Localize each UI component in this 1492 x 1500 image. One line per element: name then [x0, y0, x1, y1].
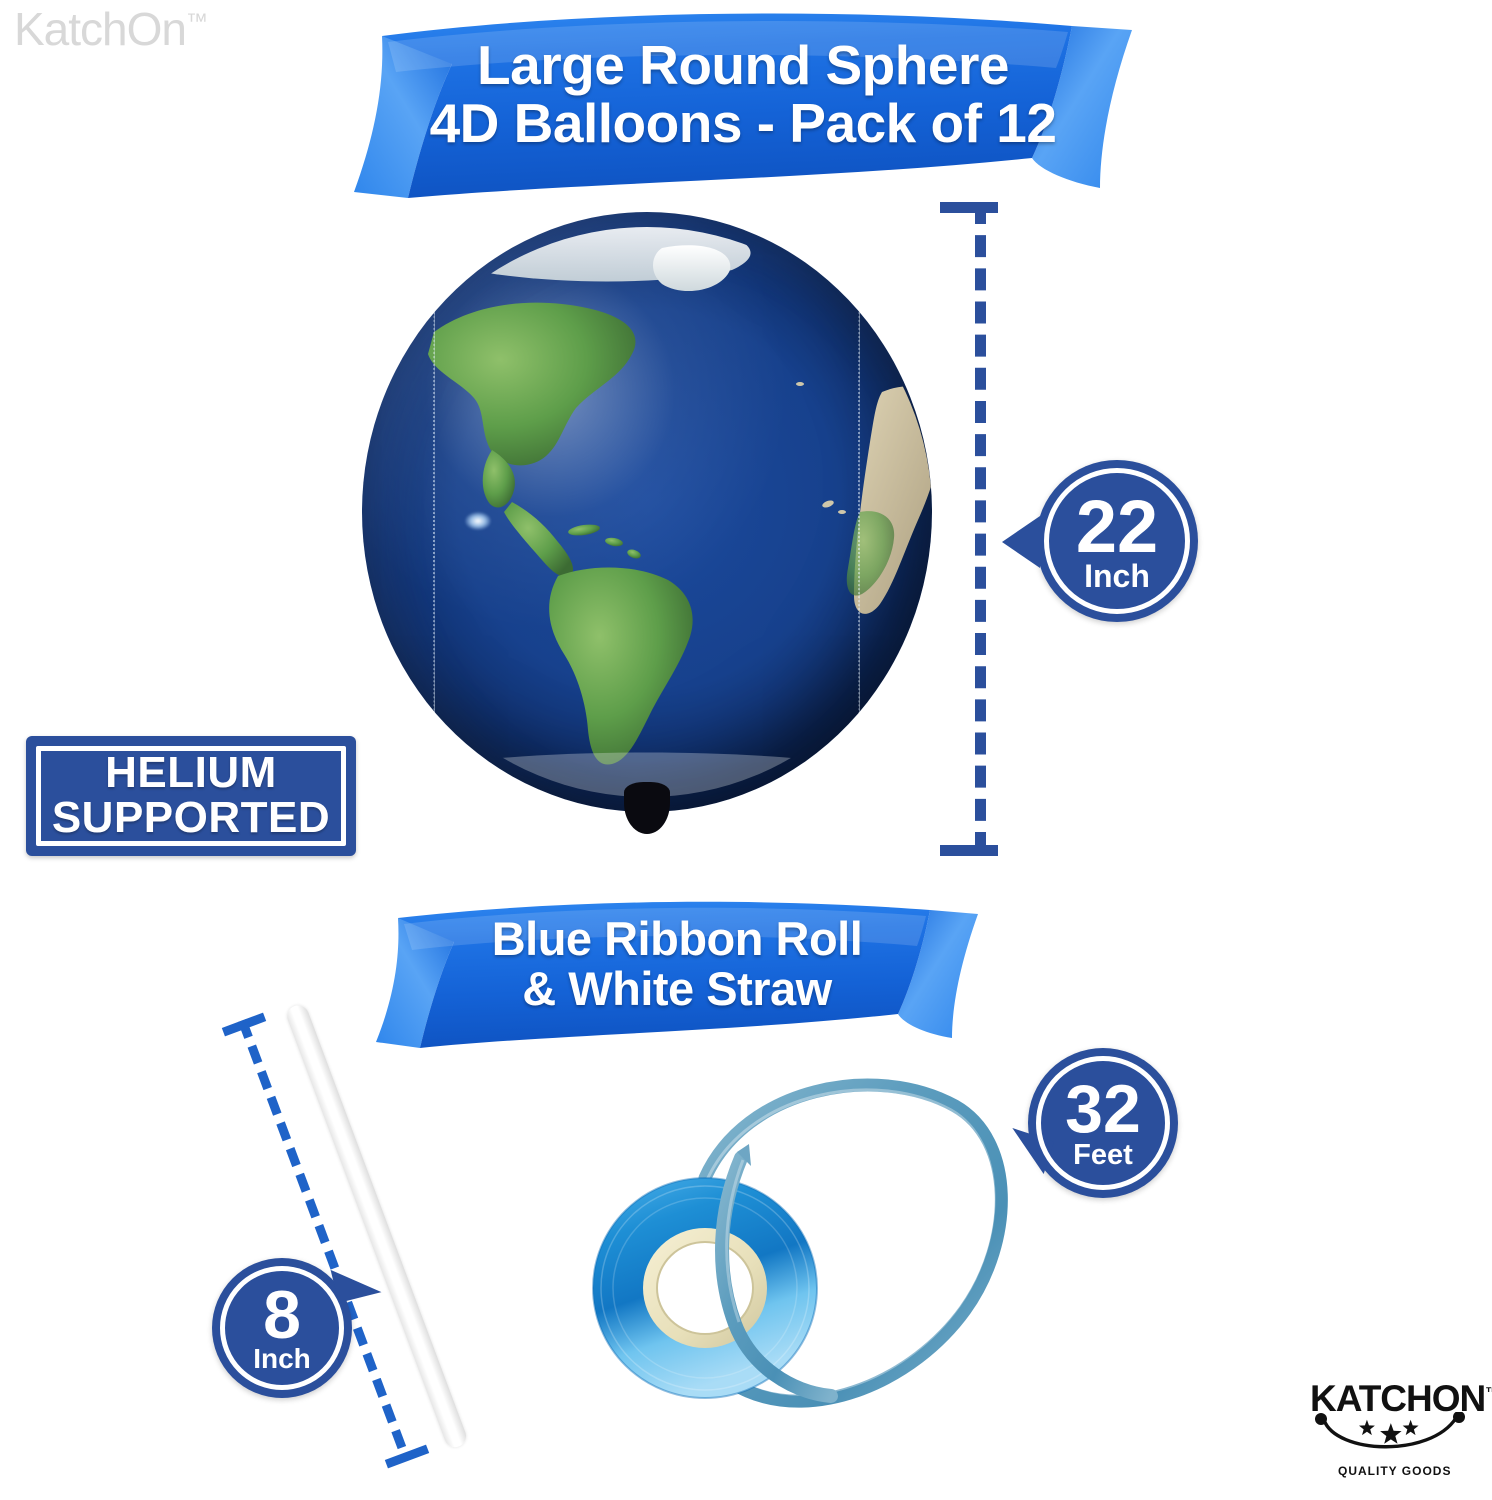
- banner-bottom: Blue Ribbon Roll & White Straw: [372, 896, 982, 1046]
- logo-stars: [1359, 1420, 1419, 1444]
- banner-top-shape: [348, 6, 1138, 206]
- blue-ribbon-roll: [545, 1040, 1020, 1455]
- size-badge-straw-length: 8 Inch: [212, 1258, 352, 1398]
- brand-logo-tagline: QUALITY GOODS: [1338, 1464, 1451, 1478]
- brand-logo-arc-stars: [1310, 1412, 1482, 1472]
- badge-number: 32: [1065, 1081, 1141, 1138]
- banner-bottom-shape: [372, 896, 982, 1052]
- banner-top: Large Round Sphere 4D Balloons - Pack of…: [348, 6, 1138, 202]
- arc-dot-left: [1315, 1413, 1327, 1425]
- earth-globe-balloon: [362, 212, 932, 812]
- badge-unit: Inch: [253, 1345, 311, 1373]
- measure-tick-diagonal-bottom: [385, 1445, 429, 1469]
- watermark-brand-text: KatchOn: [14, 3, 186, 55]
- measure-tick-top: [940, 202, 998, 213]
- helium-supported-badge: HELIUM SUPPORTED: [26, 736, 356, 856]
- globe-seam-right: [858, 230, 862, 794]
- size-badge-ribbon-length: 32 Feet: [1028, 1048, 1178, 1198]
- badge-unit: Inch: [1084, 560, 1150, 592]
- brand-logo-tm: ™: [1485, 1385, 1492, 1402]
- watermark-brand: KatchOn™: [14, 2, 208, 56]
- badge-unit: Feet: [1073, 1141, 1133, 1170]
- measure-line-vertical: [975, 202, 986, 854]
- ribbon-roll-shape: [545, 1040, 1020, 1455]
- size-badge-balloon-diameter: 22 Inch: [1036, 460, 1198, 622]
- globe-specular-highlight: [465, 512, 491, 530]
- badge-pointer-left: [1002, 516, 1040, 568]
- globe-sphere: [362, 212, 932, 812]
- badge-number: 22: [1076, 496, 1158, 558]
- badge-number: 8: [263, 1287, 301, 1344]
- balloon-nozzle: [624, 782, 670, 834]
- measure-tick-bottom: [940, 845, 998, 856]
- brand-logo: KATCHON™ QUALITY GOODS: [1310, 1378, 1482, 1490]
- globe-continents: [362, 212, 932, 812]
- watermark-tm: ™: [186, 9, 208, 34]
- helium-badge-label: HELIUM SUPPORTED: [52, 751, 330, 841]
- product-infographic: KatchOn™: [0, 0, 1492, 1500]
